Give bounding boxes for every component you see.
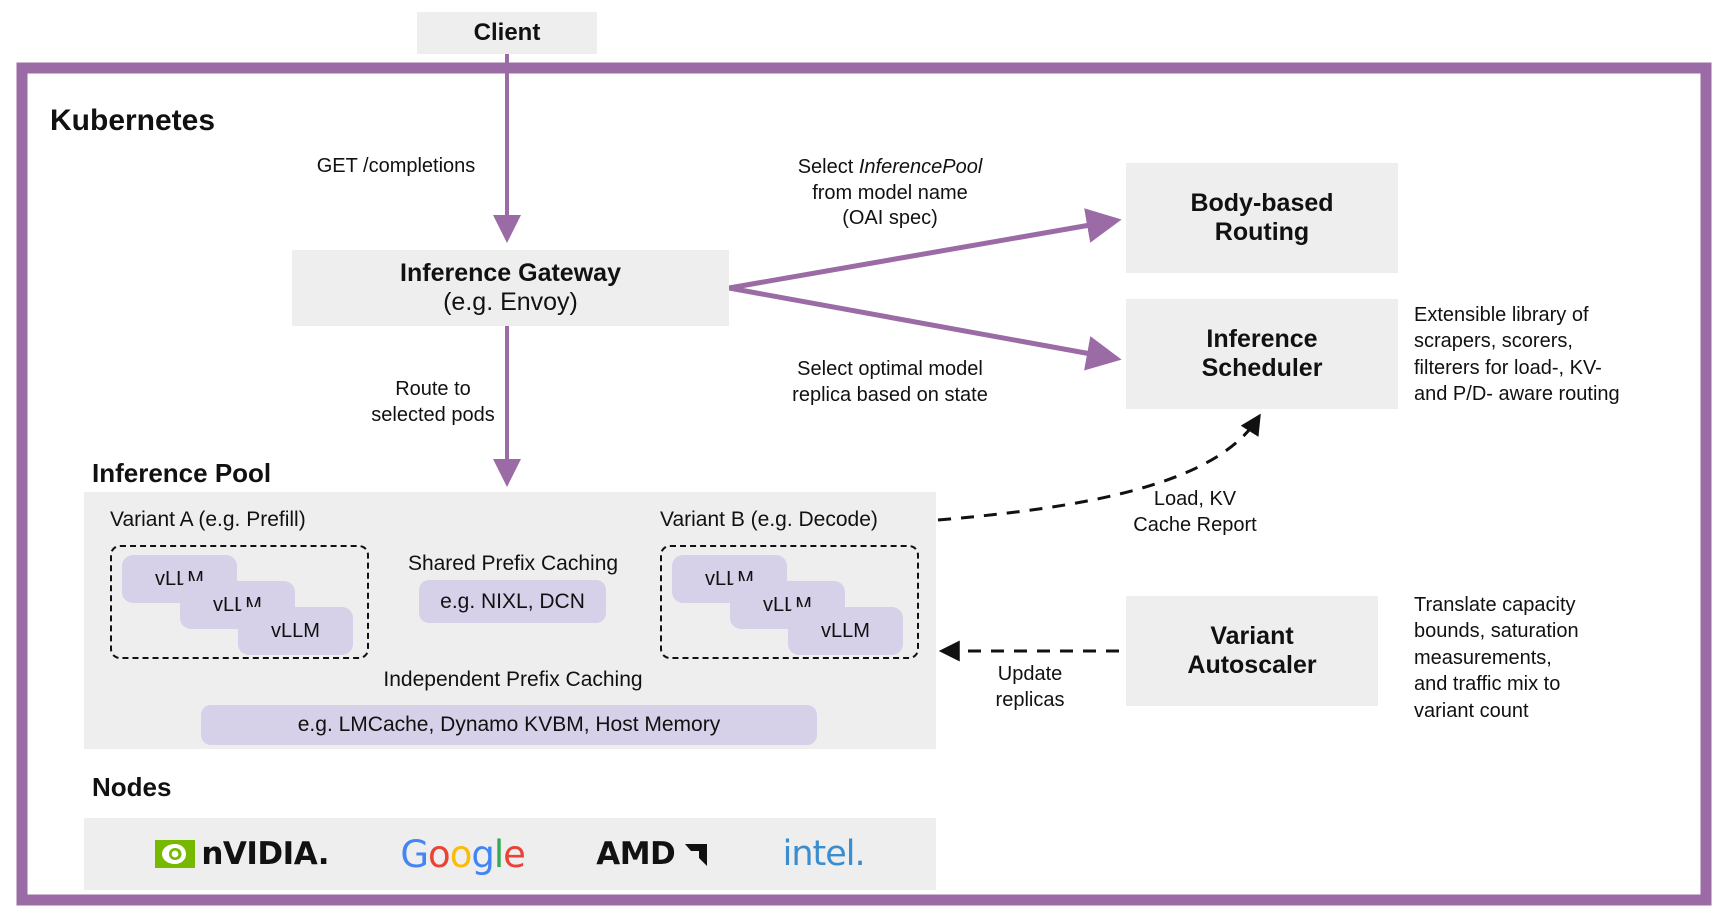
google-logo: Google [400, 833, 525, 876]
scheduler-note-l3: filterers for load-, KV- [1414, 355, 1704, 381]
shared-prefix-pill-label: e.g. NIXL, DCN [440, 590, 585, 614]
route-l2: selected pods [338, 403, 528, 429]
gateway-title: Inference Gateway [400, 259, 621, 289]
select-pool-em: InferencePool [859, 156, 982, 178]
bbr-line1: Body-based [1190, 189, 1333, 219]
select-pool-l3: (OAI spec) [740, 206, 1040, 232]
scheduler-note-l1: Extensible library of [1414, 302, 1704, 328]
autoscaler-annotation: Translate capacity bounds, saturation me… [1414, 592, 1704, 724]
diagram-canvas: Kubernetes Client Inference Gateway (e.g… [0, 0, 1728, 920]
edge-label-update-replicas: Update replicas [950, 662, 1110, 713]
scheduler-line2: Scheduler [1202, 354, 1323, 384]
intel-logo: intel. [783, 834, 865, 874]
edge-label-select-replica: Select optimal model replica based on st… [740, 357, 1040, 408]
loadkv-l1: Load, KV [1095, 487, 1295, 513]
nvidia-wordmark: nVIDIA. [201, 836, 329, 872]
node-client[interactable]: Client [417, 12, 597, 54]
variant-b-caption: Variant B (e.g. Decode) [660, 508, 920, 532]
update-l1: Update [950, 662, 1110, 688]
autoscaler-note-l4: and traffic mix to [1414, 671, 1704, 697]
nvidia-logo: nVIDIA. [155, 836, 329, 872]
scheduler-annotation: Extensible library of scrapers, scorers,… [1414, 302, 1704, 408]
variant-a-vllm-card-3[interactable]: vLLM [238, 607, 353, 655]
section-title-nodes: Nodes [92, 772, 171, 803]
edge-label-get-completions: GET /completions [286, 154, 506, 180]
variant-a-vllm-label-3: vLLM [271, 620, 320, 643]
update-l2: replicas [950, 688, 1110, 714]
autoscaler-line1: Variant [1210, 622, 1293, 652]
scheduler-note-l2: scrapers, scorers, [1414, 328, 1704, 354]
edge-label-load-kv-cache-report: Load, KV Cache Report [1095, 487, 1295, 538]
bbr-line2: Routing [1215, 218, 1309, 248]
edge-label-route-to-pods: Route to selected pods [338, 377, 528, 428]
scheduler-note-l4: and P/D- aware routing [1414, 381, 1704, 407]
amd-logo: AMD [596, 836, 711, 872]
nvidia-eye-icon [155, 837, 195, 871]
shared-prefix-caching-pill[interactable]: e.g. NIXL, DCN [419, 580, 606, 623]
autoscaler-note-l5: variant count [1414, 698, 1704, 724]
shared-prefix-caching-caption: Shared Prefix Caching [388, 552, 638, 576]
autoscaler-line2: Autoscaler [1187, 651, 1316, 681]
route-l1: Route to [338, 377, 528, 403]
node-body-based-routing[interactable]: Body-based Routing [1126, 163, 1398, 273]
variant-b-vllm-label-3: vLLM [821, 620, 870, 643]
independent-prefix-caching-pill[interactable]: e.g. LMCache, Dynamo KVBM, Host Memory [201, 705, 817, 745]
intel-wordmark: intel. [783, 834, 865, 874]
autoscaler-note-l1: Translate capacity [1414, 592, 1704, 618]
amd-arrow-icon [681, 840, 711, 868]
amd-wordmark: AMD [596, 836, 675, 872]
gateway-subtitle: (e.g. Envoy) [443, 288, 578, 318]
client-title: Client [474, 19, 541, 47]
select-pool-l2: from model name [740, 181, 1040, 207]
select-replica-l1: Select optimal model [740, 357, 1040, 383]
loadkv-l2: Cache Report [1095, 513, 1295, 539]
select-pool-l1: Select [798, 156, 859, 178]
select-replica-l2: replica based on state [740, 383, 1040, 409]
independent-prefix-caching-caption: Independent Prefix Caching [358, 668, 668, 692]
variant-b-vllm-card-3[interactable]: vLLM [788, 607, 903, 655]
vendor-logo-row: nVIDIA. Google AMD intel. [84, 818, 936, 890]
variant-a-caption: Variant A (e.g. Prefill) [110, 508, 370, 532]
google-wordmark: Google [400, 833, 525, 876]
independent-prefix-pill-label: e.g. LMCache, Dynamo KVBM, Host Memory [298, 713, 720, 737]
node-inference-scheduler[interactable]: Inference Scheduler [1126, 299, 1398, 409]
section-title-inference-pool: Inference Pool [92, 458, 271, 489]
autoscaler-note-l3: measurements, [1414, 645, 1704, 671]
node-inference-gateway[interactable]: Inference Gateway (e.g. Envoy) [292, 250, 729, 326]
node-variant-autoscaler[interactable]: Variant Autoscaler [1126, 596, 1378, 706]
autoscaler-note-l2: bounds, saturation [1414, 618, 1704, 644]
container-title-kubernetes: Kubernetes [50, 104, 215, 138]
edge-label-select-pool: Select InferencePool from model name (OA… [740, 155, 1040, 232]
scheduler-line1: Inference [1206, 325, 1317, 355]
